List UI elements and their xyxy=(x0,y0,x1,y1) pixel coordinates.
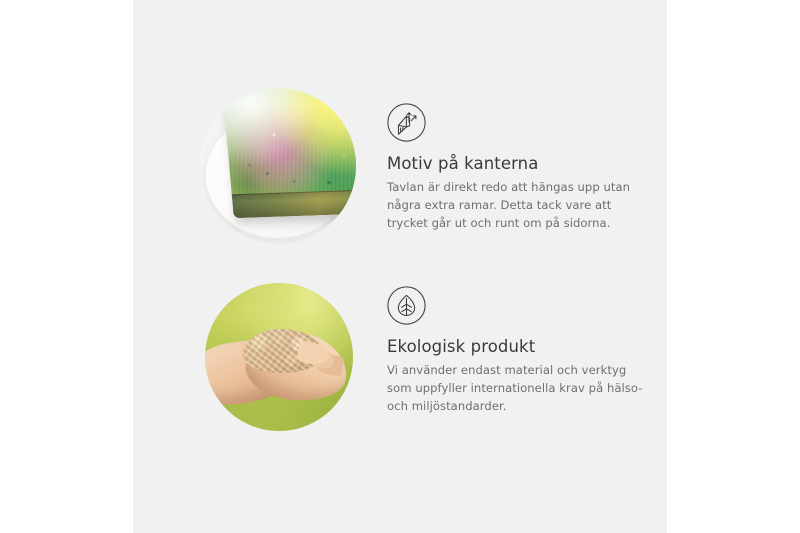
feature-title: Ekologisk produkt xyxy=(387,337,657,358)
feature-text-edges: Motiv på kanterna Tavlan är direkt redo … xyxy=(387,103,657,233)
feature-block-eco: Ekologisk produkt Vi använder endast mat… xyxy=(133,266,667,533)
hands-holding-wood-chips-photo xyxy=(205,283,353,431)
feature-text-eco: Ekologisk produkt Vi använder endast mat… xyxy=(387,286,657,416)
product-info-graphic: Motiv på kanterna Tavlan är direkt redo … xyxy=(0,0,800,533)
canvas-wrapped-side xyxy=(232,189,356,218)
canvas-print-corner-photo xyxy=(200,88,356,244)
feature-description: Tavlan är direkt redo att hängas upp uta… xyxy=(387,179,649,233)
canvas-block xyxy=(222,88,356,218)
canvas-wrapped-edge-icon xyxy=(387,103,426,142)
feature-block-edges: Motiv på kanterna Tavlan är direkt redo … xyxy=(133,0,667,266)
print-scene xyxy=(200,88,356,244)
feature-description: Vi använder endast material och verktyg … xyxy=(387,362,649,416)
content-panel: Motiv på kanterna Tavlan är direkt redo … xyxy=(133,0,667,533)
feature-title: Motiv på kanterna xyxy=(387,154,657,175)
eco-scene xyxy=(205,283,353,431)
leaf-icon xyxy=(387,286,426,325)
canvas-front-face xyxy=(222,88,356,197)
